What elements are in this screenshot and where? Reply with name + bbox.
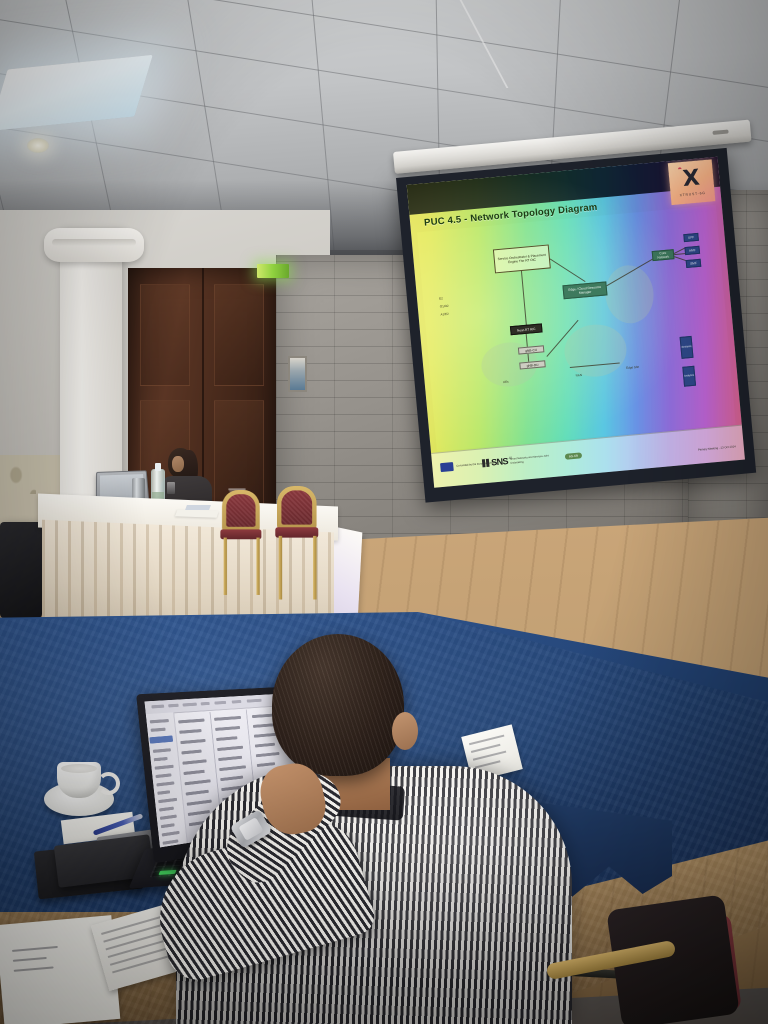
- diagram-node-smf: SMF: [686, 259, 702, 268]
- diagram-node-resource-manager: Edge / Cloud Resource Manager: [562, 281, 607, 299]
- diagram-node-gnb-du: gNB-DU: [519, 360, 546, 369]
- edge-n1-n2: [550, 258, 586, 282]
- diagram-node-orchestrator: Service Orchestrator & Placement Engine …: [493, 244, 551, 273]
- diagram-side-label-0: E2: [439, 296, 443, 301]
- attendee-hair: [272, 634, 404, 776]
- sns-bar-icon-2: [486, 459, 490, 467]
- exit-sign: [257, 264, 289, 278]
- column-capital: [44, 228, 144, 262]
- logo-x-mark: X: [682, 168, 701, 191]
- xtrust-logo: ◓ X XTRUST-6G: [668, 159, 716, 205]
- presentation-room-photo: ◓ X XTRUST-6G PUC 4.5 - Network Topology…: [0, 0, 768, 1024]
- chair-leg: [256, 538, 259, 595]
- drinking-glass-left: [167, 482, 175, 494]
- presenter-face: [172, 456, 184, 472]
- edge-n1-n7: [521, 271, 527, 327]
- chair-back-pad: [281, 490, 312, 524]
- sns-logo-text: SNS: [491, 456, 509, 467]
- coffee-cup: [57, 762, 101, 798]
- chair-back-pad: [226, 494, 256, 527]
- partner-text: Smart Networks and Services Joint Undert…: [510, 453, 558, 465]
- seated-attendee: [176, 616, 576, 1024]
- diagram-node-near-rt-ric: Near-RT RIC: [510, 323, 543, 335]
- diagram-bottom-label-1: RAN: [575, 373, 582, 378]
- diagram-side-label-2: A1/E2: [440, 312, 449, 317]
- slide-footer-note: Plenary Meeting - 23 Oct 2024: [698, 444, 736, 451]
- project-pill: 6G-XR: [565, 452, 583, 460]
- wifi-icon: ◓: [677, 164, 683, 173]
- presentation-slide: ◓ X XTRUST-6G PUC 4.5 - Network Topology…: [407, 157, 745, 488]
- presenter-papers-2: [185, 505, 211, 510]
- diagram-side-label-1: O1/O2: [440, 304, 449, 309]
- front-chair[interactable]: [546, 908, 726, 1024]
- sns-logo: SNS JU: [482, 456, 513, 469]
- diagram-bottom-label-0: UEs: [503, 380, 509, 385]
- chair-leg: [224, 538, 227, 595]
- slide-diagram-area: Service Orchestrator & Placement Engine …: [417, 205, 736, 451]
- diagram-node-monitoring: Monitoring: [680, 336, 694, 359]
- chair-leg: [279, 536, 282, 600]
- diagram-node-gnb-cu: gNB-CU: [518, 345, 545, 354]
- wall-picture: [288, 356, 307, 392]
- attendee-ear: [392, 712, 418, 750]
- diagram-node-amf: AMF: [684, 246, 700, 255]
- diagram-node-core-network: Core Network: [652, 249, 675, 261]
- attendee-head: [272, 634, 404, 776]
- chair-leg: [313, 536, 316, 600]
- diagram-bottom-label-2: Edge Site: [626, 365, 639, 371]
- logo-caption: XTRUST-6G: [679, 191, 705, 197]
- eu-flag-icon: [440, 462, 454, 472]
- diagram-node-upf: UPF: [683, 233, 699, 242]
- projection-screen: ◓ X XTRUST-6G PUC 4.5 - Network Topology…: [396, 148, 756, 503]
- presenter-papers: [175, 509, 219, 517]
- diagram-node-analytics: Analytics: [682, 366, 696, 387]
- cloud-shape-2: [562, 322, 628, 379]
